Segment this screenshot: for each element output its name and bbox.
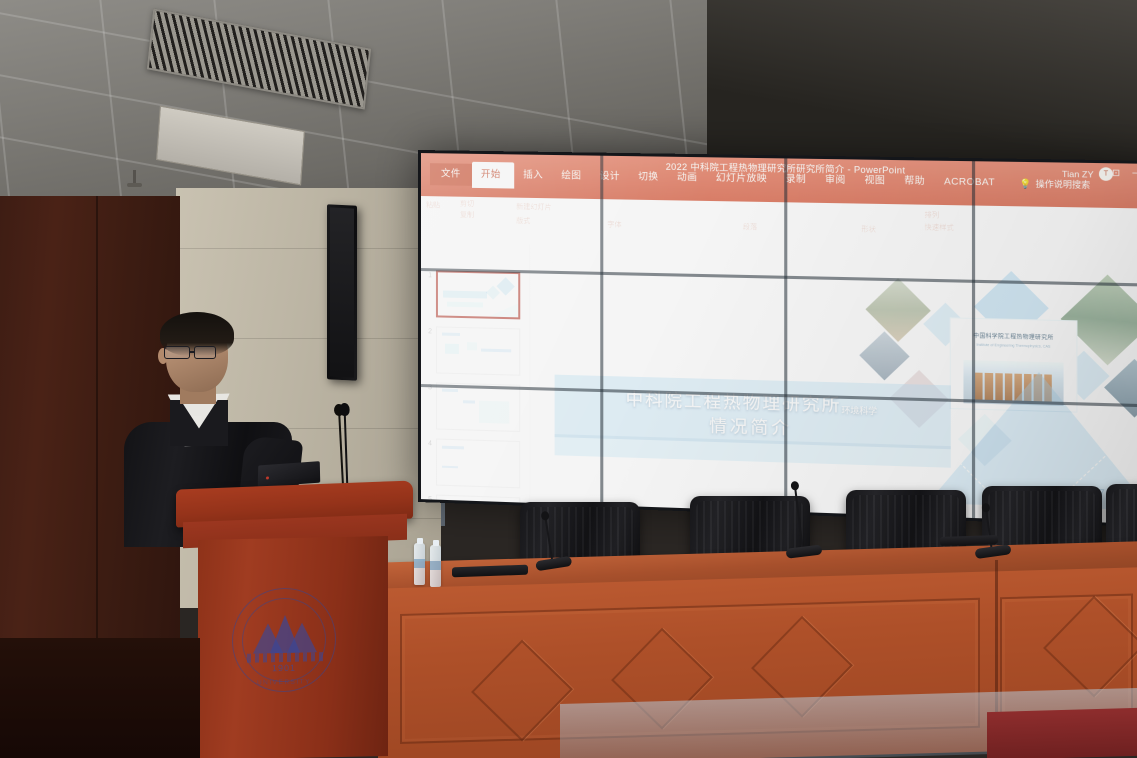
laptop-led: [266, 476, 269, 479]
foreground-chair-back: [987, 708, 1137, 758]
thumbnail-number: 1: [424, 270, 432, 279]
thumbnail-preview[interactable]: [436, 270, 520, 319]
ribbon-display-options-icon[interactable]: ⊡: [1112, 167, 1120, 179]
ribbon-arrange[interactable]: 排列: [924, 210, 939, 221]
artwork-caption-cn: 中国科学院工程热物理研究所: [951, 331, 1077, 342]
thumbnail-item-2[interactable]: 2: [424, 326, 520, 376]
column-speaker: [327, 204, 357, 381]
thumbnail-preview[interactable]: [436, 382, 520, 432]
emblem-mountain-icon: [253, 614, 317, 653]
powerpoint-window: 2022 中科院工程热物理研究所研究所简介 - PowerPoint 文件 开始…: [420, 152, 1137, 526]
thumbnail-number: 3: [424, 382, 432, 391]
tab-design[interactable]: 设计: [591, 166, 630, 189]
ribbon-copy[interactable]: 复制: [460, 210, 474, 220]
thumbnail-number: 2: [424, 326, 432, 335]
tab-acrobat[interactable]: ACROBAT: [935, 171, 1005, 195]
tab-view[interactable]: 视图: [855, 170, 895, 193]
emblem-year: 1901: [233, 662, 335, 674]
artwork-caption-en: Institute of Engineering Thermophysics, …: [951, 342, 1077, 349]
water-bottle: [430, 545, 441, 587]
ribbon-cut[interactable]: 剪切: [460, 199, 474, 209]
ribbon-layout[interactable]: 版式: [516, 216, 530, 226]
tab-help[interactable]: 帮助: [895, 170, 935, 193]
conference-room-scene: 2022 中科院工程热物理研究所研究所简介 - PowerPoint 文件 开始…: [0, 0, 1137, 758]
tab-file[interactable]: 文件: [430, 163, 472, 186]
ribbon-paste[interactable]: 粘贴: [426, 200, 440, 210]
slide-thumbnail-pane[interactable]: 1 2: [420, 242, 530, 504]
thumbnail-item-3[interactable]: 3: [424, 382, 520, 432]
account-name: Tian ZY: [1062, 168, 1094, 179]
ceiling-shadow-right: [707, 0, 1137, 162]
avatar[interactable]: T: [1099, 167, 1113, 181]
slide-title-suffix: 环境科学: [841, 405, 877, 416]
tab-review[interactable]: 审阅: [816, 169, 855, 192]
tab-record[interactable]: 录制: [776, 168, 815, 191]
thumbnail-item-1[interactable]: 1: [424, 270, 520, 319]
powerpoint-body: 粘贴 剪切 复制 新建幻灯片 版式 字体 段落 形状 排列 快速样式 共享 批注…: [420, 196, 1137, 526]
ribbon-shapes-group[interactable]: 形状: [861, 224, 876, 235]
thumbnail-number: 4: [424, 438, 432, 447]
glasses-icon: [164, 346, 230, 359]
ribbon-paragraph-group[interactable]: 段落: [743, 222, 757, 232]
minimize-icon[interactable]: −: [1132, 168, 1137, 180]
ribbon-new-slide[interactable]: 新建幻灯片: [516, 202, 551, 213]
water-bottle: [414, 543, 425, 585]
thumbnail-preview[interactable]: [436, 326, 520, 375]
tab-animations[interactable]: 动画: [668, 167, 707, 190]
tab-home[interactable]: 开始: [472, 162, 514, 189]
tab-draw[interactable]: 绘图: [552, 165, 590, 188]
tab-insert[interactable]: 插入: [514, 164, 552, 187]
ribbon-font-group[interactable]: 字体: [607, 219, 621, 229]
presenter-laptop: [258, 461, 320, 487]
emblem-peak: [270, 615, 300, 654]
lightbulb-icon: 💡: [1019, 178, 1031, 190]
window-controls[interactable]: ⊡ − ❐: [1112, 167, 1137, 179]
lcd-video-wall: 2022 中科院工程热物理研究所研究所简介 - PowerPoint 文件 开始…: [420, 152, 1137, 526]
account-area[interactable]: Tian ZY T: [1062, 167, 1113, 181]
tab-slideshow[interactable]: 幻灯片放映: [707, 167, 777, 191]
tab-transitions[interactable]: 切换: [629, 166, 668, 189]
foreground-floor: [0, 638, 200, 758]
sprinkler-head: [133, 170, 136, 186]
ribbon-quick-styles[interactable]: 快速样式: [924, 222, 954, 233]
emblem-water-icon: [247, 652, 323, 663]
